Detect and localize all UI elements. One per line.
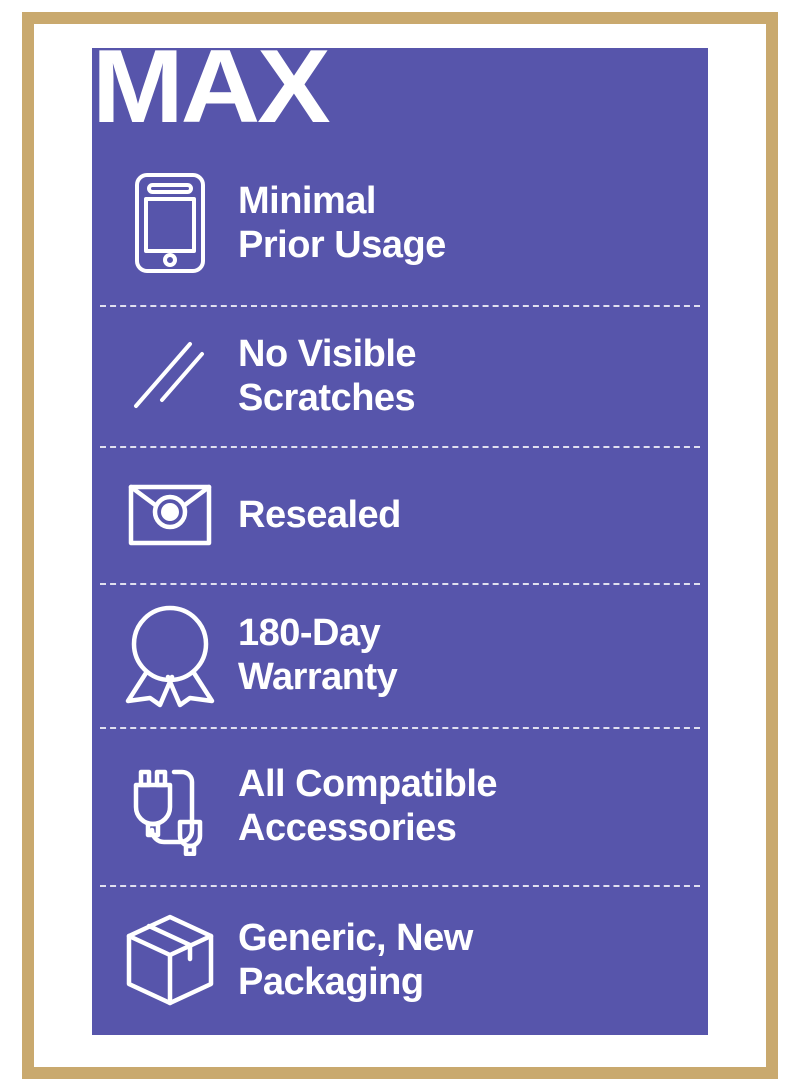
page-title: MAX bbox=[92, 44, 410, 130]
list-item-label: All Compatible Accessories bbox=[234, 762, 694, 850]
feature-list: Minimal Prior Usage No Visible Scratches bbox=[92, 140, 708, 1035]
list-item: All Compatible Accessories bbox=[92, 727, 708, 885]
condition-poster: MAX Minimal Prior Usage No bbox=[0, 0, 800, 1091]
list-item-label: Generic, New Packaging bbox=[234, 916, 694, 1004]
list-item: Minimal Prior Usage bbox=[92, 140, 708, 305]
list-item: Generic, New Packaging bbox=[92, 885, 708, 1035]
smartphone-icon bbox=[106, 140, 234, 305]
list-item: No Visible Scratches bbox=[92, 305, 708, 446]
list-item: Resealed bbox=[92, 446, 708, 583]
award-ribbon-icon bbox=[106, 583, 234, 727]
list-item-label: 180-Day Warranty bbox=[234, 611, 694, 699]
package-box-icon bbox=[106, 885, 234, 1035]
sealed-envelope-icon bbox=[106, 446, 234, 583]
list-item-label: Minimal Prior Usage bbox=[234, 179, 694, 267]
scratches-icon bbox=[106, 305, 234, 446]
list-item: 180-Day Warranty bbox=[92, 583, 708, 727]
list-item-label: No Visible Scratches bbox=[234, 332, 694, 420]
usb-cable-icon bbox=[106, 727, 234, 885]
list-item-label: Resealed bbox=[234, 493, 694, 537]
